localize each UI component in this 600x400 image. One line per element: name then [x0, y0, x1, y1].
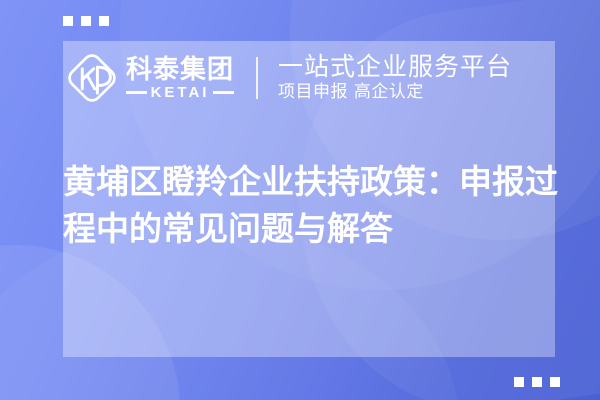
- banner-title: 黄埔区瞪羚企业扶持政策：申报过程中的常见问题与解答: [63, 158, 573, 252]
- square-dot: [99, 16, 109, 26]
- tagline-primary: 一站式企业服务平台: [278, 52, 512, 81]
- square-dot: [63, 16, 73, 26]
- logo-rule-right: [213, 91, 234, 94]
- vertical-divider: [256, 57, 258, 99]
- logo-company-name-cn: 科泰集团: [126, 56, 234, 84]
- tagline-block: 一站式企业服务平台 项目申报 高企认定: [278, 52, 512, 104]
- logo-english-row: KETAI: [126, 85, 234, 101]
- banner-header: 科泰集团 KETAI 一站式企业服务平台 项目申报 高企认定: [63, 45, 563, 111]
- logo-wordmark: 科泰集团 KETAI: [126, 56, 234, 101]
- square-dot: [81, 16, 91, 26]
- dot-group-bottom-right: [514, 377, 560, 387]
- square-dot: [550, 377, 560, 387]
- dot-group-top-left: [63, 16, 109, 26]
- brand-logo[interactable]: 科泰集团 KETAI: [65, 51, 234, 105]
- tagline-secondary: 项目申报 高企认定: [278, 81, 512, 104]
- logo-rule-left: [126, 91, 147, 94]
- ketai-kd-monogram-icon: [65, 51, 119, 105]
- square-dot: [514, 377, 524, 387]
- logo-company-name-en: KETAI: [151, 85, 210, 101]
- square-dot: [532, 377, 542, 387]
- promo-banner: 科泰集团 KETAI 一站式企业服务平台 项目申报 高企认定 黄埔区瞪羚企业扶持…: [0, 0, 600, 400]
